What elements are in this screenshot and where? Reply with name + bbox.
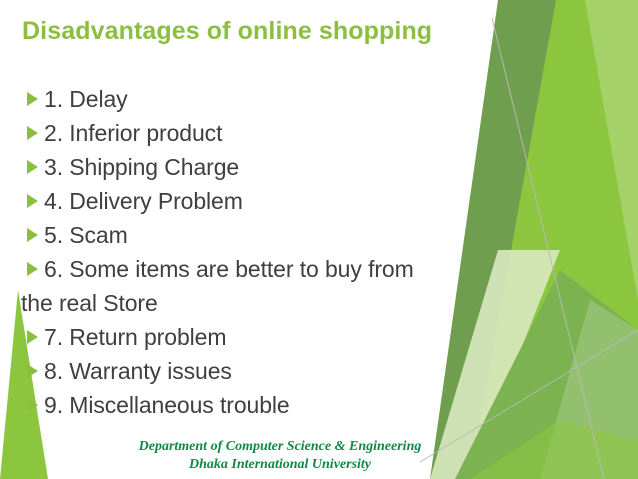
- list-item-label: 1. Delay: [44, 82, 524, 116]
- footer-university-line: Dhaka International University: [0, 456, 560, 474]
- list-item: 4. Delivery Problem: [24, 184, 524, 218]
- pale-green-triangle-upper: [585, 0, 638, 300]
- bullet-list: 1. Delay 2. Inferior product 3. Shipping…: [24, 82, 524, 422]
- list-item: 7. Return problem: [24, 320, 524, 354]
- list-item-label: 7. Return problem: [44, 320, 524, 354]
- slide-title: Disadvantages of online shopping: [22, 17, 432, 46]
- triangle-bullet-icon: [24, 388, 44, 422]
- list-item-label: 9. Miscellaneous trouble: [44, 388, 524, 422]
- slide-footer: Department of Computer Science & Enginee…: [0, 438, 560, 474]
- triangle-bullet-icon: [24, 184, 44, 218]
- list-item-label: 3. Shipping Charge: [44, 150, 524, 184]
- list-item-label: 5. Scam: [44, 218, 524, 252]
- triangle-bullet-icon: [24, 252, 44, 286]
- presentation-slide: Disadvantages of online shopping 1. Dela…: [0, 0, 638, 479]
- list-item: 8. Warranty issues: [24, 354, 524, 388]
- triangle-bullet-icon: [24, 320, 44, 354]
- list-item: 5. Scam: [24, 218, 524, 252]
- list-item-label: 8. Warranty issues: [44, 354, 524, 388]
- list-item-wrapped-line: the real Store: [21, 286, 524, 320]
- list-item: 9. Miscellaneous trouble: [24, 388, 524, 422]
- list-item: 2. Inferior product: [24, 116, 524, 150]
- list-item-label: 6. Some items are better to buy from: [44, 252, 524, 286]
- triangle-bullet-icon: [24, 218, 44, 252]
- list-item: 6. Some items are better to buy from: [24, 252, 524, 286]
- list-item: 3. Shipping Charge: [24, 150, 524, 184]
- list-item: 1. Delay: [24, 82, 524, 116]
- list-item-label: 2. Inferior product: [44, 116, 524, 150]
- triangle-bullet-icon: [24, 150, 44, 184]
- triangle-bullet-icon: [24, 354, 44, 388]
- triangle-bullet-icon: [24, 116, 44, 150]
- footer-department-line: Department of Computer Science & Enginee…: [0, 438, 560, 456]
- list-item-label: 4. Delivery Problem: [44, 184, 524, 218]
- triangle-bullet-icon: [24, 82, 44, 116]
